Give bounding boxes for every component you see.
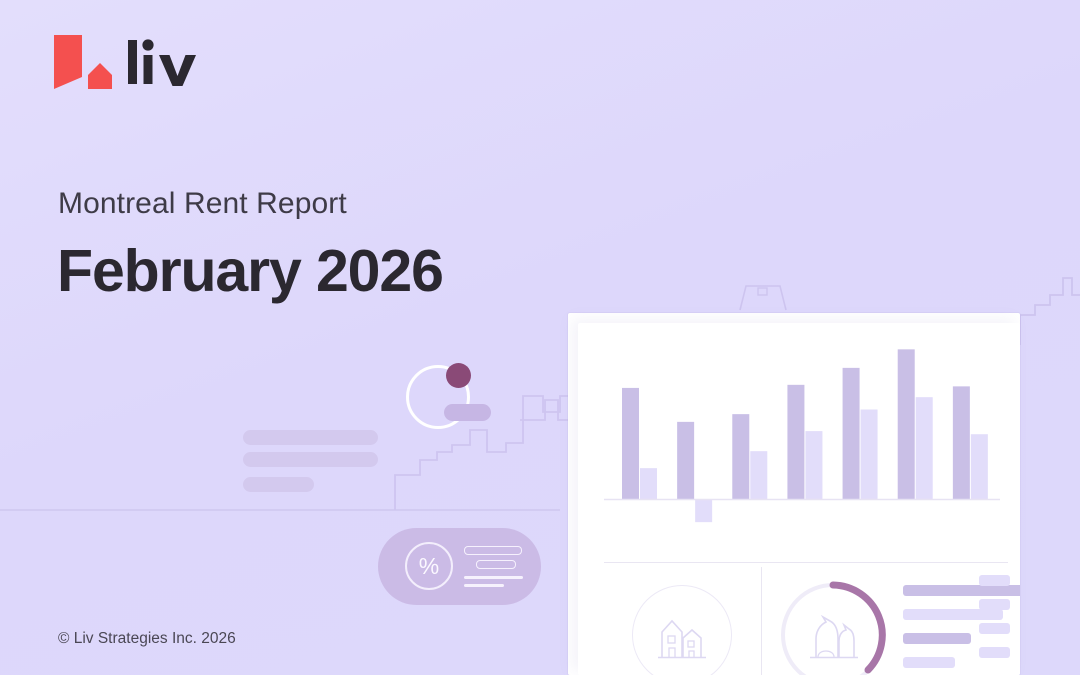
page-title: February 2026 bbox=[57, 237, 443, 305]
report-cover: Montreal Rent Report February 2026 © Liv… bbox=[0, 0, 1080, 675]
stat-row-bar bbox=[903, 609, 1003, 620]
percent-badge-card bbox=[378, 528, 541, 605]
placeholder-bar-1 bbox=[243, 430, 378, 445]
chart-bar bbox=[622, 388, 639, 499]
chart-bar bbox=[805, 431, 822, 499]
card-divider-vertical bbox=[761, 567, 762, 675]
percent-line-3 bbox=[464, 576, 523, 579]
house-icon bbox=[656, 615, 708, 659]
stat-row-tag bbox=[979, 623, 1010, 634]
chart-bar bbox=[898, 349, 915, 499]
chart-bar bbox=[843, 368, 860, 499]
copyright-text: © Liv Strategies Inc. 2026 bbox=[58, 630, 236, 648]
chart-bar bbox=[953, 386, 970, 499]
liv-logo-mark-icon bbox=[52, 33, 114, 91]
percent-line-2 bbox=[476, 560, 516, 569]
placeholder-bar-2 bbox=[243, 452, 378, 467]
chart-bar bbox=[787, 385, 804, 499]
chart-bar bbox=[971, 434, 988, 499]
document-card-front bbox=[578, 323, 1020, 675]
decor-dot-icon bbox=[446, 363, 471, 388]
chart-bar bbox=[750, 451, 767, 499]
chart-bar bbox=[640, 468, 657, 499]
chart-bar bbox=[677, 422, 694, 499]
chart-bar bbox=[861, 410, 878, 499]
liv-wordmark-icon bbox=[126, 36, 198, 88]
decor-pill bbox=[444, 404, 491, 421]
chart-bar bbox=[732, 414, 749, 499]
percent-icon: % bbox=[405, 542, 453, 590]
chart-bar bbox=[695, 499, 712, 522]
placeholder-bar-3 bbox=[243, 477, 314, 492]
stat-row-bar bbox=[903, 585, 1020, 596]
stat-row-tag bbox=[979, 647, 1010, 658]
pet-icon bbox=[806, 615, 860, 659]
percent-line-1 bbox=[464, 546, 522, 555]
bar-chart bbox=[578, 323, 1020, 540]
page-kicker: Montreal Rent Report bbox=[58, 187, 347, 221]
card-divider-horizontal bbox=[604, 562, 1008, 563]
bar-chart-svg bbox=[578, 323, 1020, 540]
chart-bar bbox=[916, 397, 933, 499]
stat-row-tag bbox=[979, 599, 1010, 610]
percent-line-4 bbox=[464, 584, 504, 587]
brand-logo[interactable] bbox=[52, 33, 198, 91]
stat-row-tag bbox=[979, 575, 1010, 586]
stat-row-bar bbox=[903, 657, 955, 668]
stat-row-bar bbox=[903, 633, 971, 644]
